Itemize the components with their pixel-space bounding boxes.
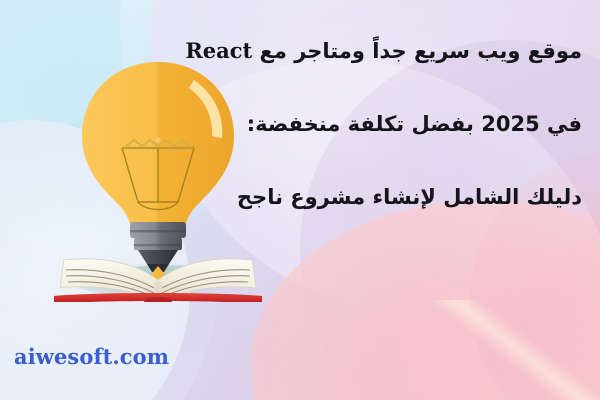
headline-line-2: في 2025 بفضل تكلفة منخفضة: bbox=[142, 114, 582, 135]
headline-line-1-latin: React bbox=[185, 38, 252, 63]
bg-blob-pink bbox=[250, 200, 600, 400]
headline-line-1: موقع ويب سريع جداً ومتاجر مع React bbox=[142, 40, 582, 62]
thumbnail-canvas: موقع ويب سريع جداً ومتاجر مع React في 20… bbox=[0, 0, 600, 400]
headline-line-3: دليلك الشامل لإنشاء مشروع ناجح bbox=[142, 187, 582, 208]
headline-line-1-arabic: موقع ويب سريع جداً ومتاجر مع bbox=[252, 39, 582, 63]
bg-diagonal-streak bbox=[420, 300, 600, 400]
headline-block: موقع ويب سريع جداً ومتاجر مع React في 20… bbox=[142, 40, 582, 208]
site-watermark: aiwesoft.com bbox=[14, 344, 169, 369]
